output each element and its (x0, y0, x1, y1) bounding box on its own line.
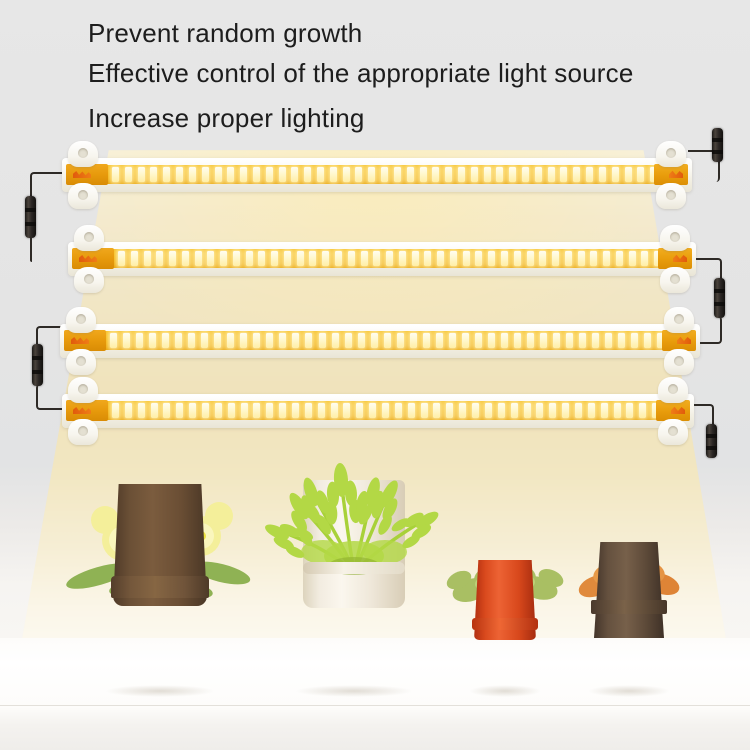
led-chip (421, 403, 428, 418)
led-chip (279, 167, 286, 182)
led-chip (578, 251, 585, 266)
led-chip (381, 167, 388, 182)
led-chip (176, 403, 183, 418)
led-chip (618, 333, 625, 348)
mounting-bracket[interactable] (68, 419, 98, 445)
pot-rim (111, 576, 209, 598)
led-chip (169, 251, 176, 266)
barrel-plug-icon (706, 424, 717, 458)
led-chip (112, 403, 119, 418)
mounting-bracket[interactable] (656, 141, 686, 167)
led-light-bar[interactable] (62, 158, 692, 192)
led-chip (125, 167, 132, 182)
mounting-bracket[interactable] (664, 307, 694, 333)
led-chip (271, 251, 278, 266)
barrel-plug-icon (714, 278, 725, 318)
led-chip (266, 403, 273, 418)
led-chip (445, 167, 452, 182)
led-chip (138, 167, 145, 182)
led-chip (592, 333, 599, 348)
led-chip (527, 333, 534, 348)
led-channel (66, 331, 694, 350)
led-chip (162, 333, 169, 348)
led-chip (637, 167, 644, 182)
pot-shadow (105, 685, 214, 697)
led-chip (549, 403, 556, 418)
led-chip (432, 167, 439, 182)
led-chip (201, 333, 208, 348)
led-chip (462, 333, 469, 348)
led-light-bar[interactable] (68, 242, 696, 276)
led-chip (560, 167, 567, 182)
led-chip (599, 167, 606, 182)
led-chip (227, 333, 234, 348)
led-chip (488, 333, 495, 348)
led-channel (74, 249, 690, 268)
mounting-bracket[interactable] (660, 267, 690, 293)
led-chip (123, 333, 130, 348)
led-chip (284, 251, 291, 266)
led-chip (258, 251, 265, 266)
led-chip-row (110, 333, 678, 348)
led-chip (514, 251, 521, 266)
light-cone-glow (0, 150, 750, 480)
led-chip (446, 403, 453, 418)
led-end-cap (658, 248, 692, 269)
led-chip (136, 333, 143, 348)
mounting-bracket[interactable] (658, 419, 688, 445)
led-chip (433, 403, 440, 418)
led-chip (345, 333, 352, 348)
led-chip (412, 251, 419, 266)
led-chip (322, 251, 329, 266)
led-chip (125, 403, 132, 418)
led-chip (227, 167, 234, 182)
led-chip (566, 333, 573, 348)
mounting-bracket[interactable] (74, 267, 104, 293)
led-chip (420, 167, 427, 182)
mounting-bracket[interactable] (74, 225, 104, 251)
led-chip (562, 403, 569, 418)
led-chip (575, 403, 582, 418)
led-chip (343, 403, 350, 418)
led-chip (586, 167, 593, 182)
led-chip (253, 403, 260, 418)
led-chip (514, 333, 521, 348)
headline-line-3: Increase proper lighting (88, 103, 365, 134)
led-chip (496, 167, 503, 182)
led-chip (472, 403, 479, 418)
led-chip (450, 251, 457, 266)
led-chip (279, 403, 286, 418)
led-chip (397, 333, 404, 348)
led-chip (524, 403, 531, 418)
led-chip (527, 251, 534, 266)
led-chip (539, 251, 546, 266)
led-chip (292, 333, 299, 348)
led-chip (612, 167, 619, 182)
barrel-plug-icon (25, 196, 36, 238)
led-chip (588, 403, 595, 418)
barrel-plug-icon (712, 128, 723, 162)
led-chip (292, 403, 299, 418)
led-chip (151, 403, 158, 418)
led-chip (498, 403, 505, 418)
led-chip (408, 403, 415, 418)
led-chip (458, 167, 465, 182)
led-channel (68, 165, 686, 184)
led-chip (368, 167, 375, 182)
led-chip (156, 251, 163, 266)
led-chip (335, 251, 342, 266)
plant-4 (594, 542, 664, 692)
pot-shadow (588, 685, 669, 697)
led-chip (215, 403, 222, 418)
led-chip (449, 333, 456, 348)
mounting-bracket[interactable] (66, 307, 96, 333)
led-chip (631, 333, 638, 348)
led-chip (488, 251, 495, 266)
led-chip (485, 403, 492, 418)
led-driver-module (72, 248, 114, 269)
housing-highlight (66, 395, 690, 400)
led-chip (150, 167, 157, 182)
led-chip (144, 251, 151, 266)
led-chip (373, 251, 380, 266)
led-chip (348, 251, 355, 266)
led-chip-row (112, 403, 672, 418)
led-chip (118, 251, 125, 266)
led-chip (395, 403, 402, 418)
led-chip (394, 167, 401, 182)
led-chip (182, 251, 189, 266)
led-chip (371, 333, 378, 348)
led-chip (579, 333, 586, 348)
led-chip (407, 167, 414, 182)
mounting-bracket[interactable] (68, 183, 98, 209)
led-chip (246, 251, 253, 266)
led-chip (535, 167, 542, 182)
product-image: Prevent random growth Effective control … (0, 0, 750, 750)
led-light-bar[interactable] (60, 324, 700, 358)
mounting-bracket[interactable] (660, 225, 690, 251)
led-chip (511, 403, 518, 418)
pot-rim (303, 562, 405, 574)
led-chip-row (118, 251, 674, 266)
led-chip (240, 333, 247, 348)
led-chip (384, 333, 391, 348)
plant-pot (594, 542, 664, 638)
led-chip (614, 403, 621, 418)
led-chip (195, 251, 202, 266)
led-chip (297, 251, 304, 266)
led-chip (188, 333, 195, 348)
led-chip (641, 251, 648, 266)
led-end-cap (654, 164, 688, 185)
led-chip (356, 403, 363, 418)
led-chip (214, 333, 221, 348)
led-chip (241, 403, 248, 418)
led-end-cap (662, 330, 696, 351)
led-chip (399, 251, 406, 266)
housing-highlight (64, 325, 696, 330)
led-chip (343, 167, 350, 182)
led-chip (163, 403, 170, 418)
led-chip (540, 333, 547, 348)
led-chip (626, 403, 633, 418)
led-chip (573, 167, 580, 182)
led-chip (266, 333, 273, 348)
led-chip (536, 403, 543, 418)
led-chip (509, 167, 516, 182)
led-chip (358, 333, 365, 348)
led-chip (605, 333, 612, 348)
led-chip (220, 251, 227, 266)
led-chip (318, 403, 325, 418)
plant-2 (303, 480, 405, 692)
led-chip (501, 333, 508, 348)
led-chip (459, 403, 466, 418)
led-end-cap (656, 400, 690, 421)
led-chip (176, 167, 183, 182)
led-chip (317, 167, 324, 182)
led-channel (68, 401, 688, 420)
led-chip (309, 251, 316, 266)
led-chip (112, 167, 119, 182)
led-chip (437, 251, 444, 266)
led-chip (548, 167, 555, 182)
led-chip (319, 333, 326, 348)
pot-shadow (469, 685, 541, 697)
led-chip (305, 403, 312, 418)
led-chip (202, 167, 209, 182)
headline-line-1: Prevent random growth (88, 18, 362, 49)
pot-rim (591, 600, 667, 614)
led-chip (424, 251, 431, 266)
led-chip-row (112, 167, 670, 182)
housing-highlight (72, 243, 692, 248)
led-chip (410, 333, 417, 348)
pot-rim (472, 618, 538, 630)
mounting-bracket[interactable] (66, 349, 96, 375)
led-chip (436, 333, 443, 348)
led-chip (149, 333, 156, 348)
led-chip (644, 333, 651, 348)
led-chip (590, 251, 597, 266)
led-chip (305, 333, 312, 348)
led-chip (475, 333, 482, 348)
led-chip (629, 251, 636, 266)
led-light-bar[interactable] (62, 394, 694, 428)
led-chip (471, 167, 478, 182)
led-chip (138, 403, 145, 418)
led-chip (240, 167, 247, 182)
table-front-edge (0, 705, 750, 706)
fern-foliage (249, 446, 459, 576)
mounting-bracket[interactable] (68, 141, 98, 167)
led-driver-module (66, 164, 108, 185)
led-chip (233, 251, 240, 266)
led-chip (163, 167, 170, 182)
led-chip (369, 403, 376, 418)
led-chip (331, 403, 338, 418)
led-chip (616, 251, 623, 266)
led-chip (131, 251, 138, 266)
plant-3 (474, 560, 536, 692)
led-chip (382, 403, 389, 418)
plant-1 (113, 484, 207, 692)
led-chip (625, 167, 632, 182)
led-chip (475, 251, 482, 266)
led-chip (304, 167, 311, 182)
led-chip (361, 251, 368, 266)
mounting-bracket[interactable] (656, 183, 686, 209)
mounting-bracket[interactable] (664, 349, 694, 375)
led-chip (463, 251, 470, 266)
led-chip (330, 167, 337, 182)
led-chip (332, 333, 339, 348)
led-chip (215, 167, 222, 182)
led-chip (386, 251, 393, 266)
led-chip (175, 333, 182, 348)
led-driver-module (66, 400, 108, 421)
led-chip (266, 167, 273, 182)
led-chip (291, 167, 298, 182)
led-chip (202, 403, 209, 418)
led-chip (423, 333, 430, 348)
led-chip (603, 251, 610, 266)
led-chip (355, 167, 362, 182)
led-chip (565, 251, 572, 266)
led-chip (189, 167, 196, 182)
housing-highlight (66, 159, 688, 164)
led-chip (279, 333, 286, 348)
barrel-plug-icon (32, 344, 43, 386)
led-chip (522, 167, 529, 182)
pot-shadow (295, 685, 413, 697)
led-chip (501, 251, 508, 266)
led-chip (601, 403, 608, 418)
headline-line-2: Effective control of the appropriate lig… (88, 58, 634, 89)
mounting-bracket[interactable] (658, 377, 688, 403)
led-driver-module (64, 330, 106, 351)
led-chip (253, 167, 260, 182)
led-chip (228, 403, 235, 418)
led-chip (189, 403, 196, 418)
led-chip (552, 251, 559, 266)
led-chip (253, 333, 260, 348)
mounting-bracket[interactable] (68, 377, 98, 403)
led-chip (207, 251, 214, 266)
led-chip (553, 333, 560, 348)
led-chip (110, 333, 117, 348)
led-chip (484, 167, 491, 182)
led-chip (639, 403, 646, 418)
